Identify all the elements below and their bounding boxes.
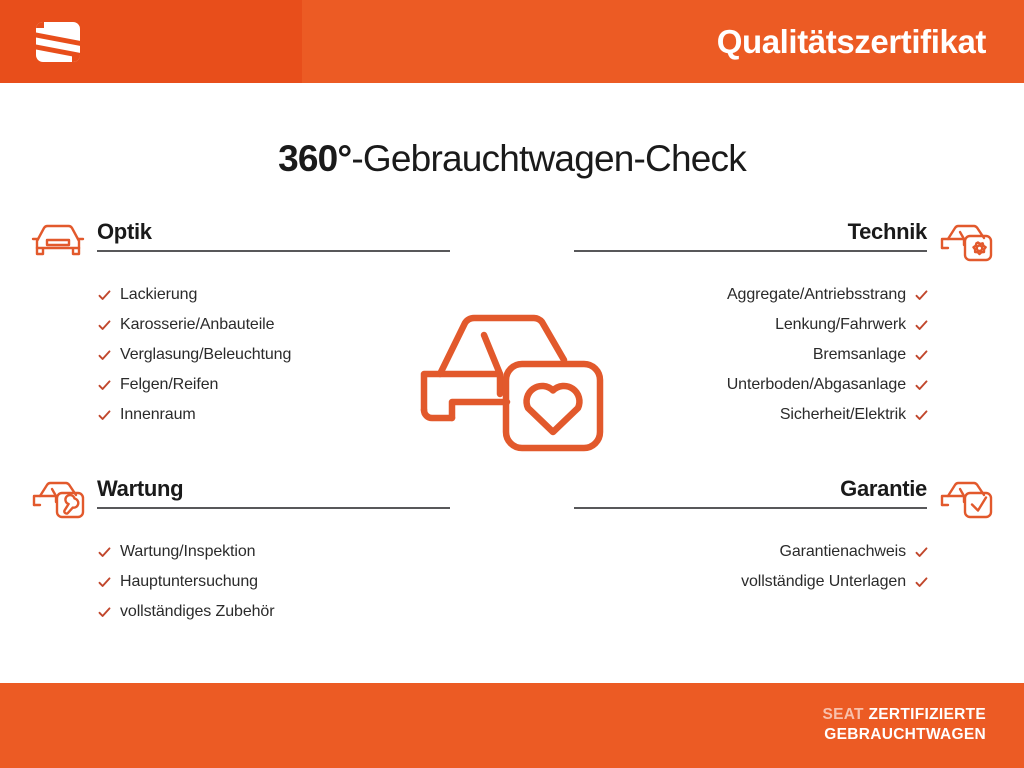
list-item-label: Garantienachweis: [780, 537, 906, 567]
check-icon: [915, 379, 928, 392]
car-front-icon: [30, 218, 86, 264]
check-icon: [98, 409, 111, 422]
check-icon: [98, 349, 111, 362]
list-item: vollständiges Zubehör: [98, 597, 450, 627]
list-item-label: Wartung/Inspektion: [120, 537, 255, 567]
car-with-heart-icon: [412, 302, 612, 474]
section-optik-header: Optik: [30, 218, 450, 268]
list-item-label: Verglasung/Beleuchtung: [120, 340, 291, 370]
list-item-label: Bremsanlage: [813, 340, 906, 370]
check-icon: [98, 379, 111, 392]
check-icon: [915, 409, 928, 422]
section-optik-title-wrap: Optik: [97, 218, 450, 252]
check-icon: [98, 546, 111, 559]
check-icon: [98, 289, 111, 302]
section-technik-title-wrap: Technik: [574, 218, 927, 252]
list-item: Sicherheit/Elektrik: [574, 400, 928, 430]
car-check-icon: [938, 475, 994, 521]
section-garantie-divider: [574, 507, 927, 509]
check-icon: [98, 576, 111, 589]
list-item: Wartung/Inspektion: [98, 537, 450, 567]
seat-logo: [34, 20, 267, 64]
check-icon: [915, 289, 928, 302]
check-icon: [915, 349, 928, 362]
list-item: Aggregate/Antriebsstrang: [574, 280, 928, 310]
car-wrench-icon: [30, 475, 86, 521]
section-optik-divider: [97, 250, 450, 252]
list-item-label: Sicherheit/Elektrik: [780, 400, 906, 430]
section-wartung-header: Wartung: [30, 475, 450, 525]
list-item-label: Hauptuntersuchung: [120, 567, 258, 597]
section-garantie: Garantie Garantienachweis vollständige U…: [574, 475, 994, 597]
list-item-label: Lackierung: [120, 280, 197, 310]
page-header: Qualitätszertifikat: [0, 0, 1024, 83]
section-wartung-divider: [97, 507, 450, 509]
section-optik: Optik Lackierung Karosserie/Anbauteile V…: [30, 218, 450, 430]
section-wartung-title-wrap: Wartung: [97, 475, 450, 509]
list-item: Bremsanlage: [574, 340, 928, 370]
page-title: 360°-Gebrauchtwagen-Check: [0, 138, 1024, 180]
list-item: Lackierung: [98, 280, 450, 310]
header-title: Qualitätszertifikat: [717, 0, 986, 83]
seat-wordmark: [99, 27, 267, 57]
list-item: Innenraum: [98, 400, 450, 430]
section-technik-title: Technik: [574, 218, 927, 246]
footer-brand: SEAT ZERTIFIZIERTE GEBRAUCHTWAGEN: [822, 705, 986, 745]
footer-brand-line2: GEBRAUCHTWAGEN: [822, 725, 986, 745]
list-item: vollständige Unterlagen: [574, 567, 928, 597]
page-title-rest: -Gebrauchtwagen-Check: [351, 138, 746, 179]
page-title-highlight: 360°: [278, 138, 351, 179]
section-technik-header: Technik: [574, 218, 994, 268]
list-item: Garantienachweis: [574, 537, 928, 567]
list-item-label: Lenkung/Fahrwerk: [775, 310, 906, 340]
footer-brand-prefix: SEAT: [822, 706, 863, 723]
list-item-label: Unterboden/Abgasanlage: [727, 370, 906, 400]
seat-s-mark-icon: [34, 20, 82, 64]
section-garantie-header: Garantie: [574, 475, 994, 525]
section-wartung-list: Wartung/Inspektion Hauptuntersuchung vol…: [30, 537, 450, 627]
section-garantie-title: Garantie: [574, 475, 927, 503]
list-item: Felgen/Reifen: [98, 370, 450, 400]
check-icon: [98, 319, 111, 332]
check-icon: [915, 319, 928, 332]
list-item: Hauptuntersuchung: [98, 567, 450, 597]
list-item-label: vollständiges Zubehör: [120, 597, 274, 627]
page-footer: SEAT ZERTIFIZIERTE GEBRAUCHTWAGEN: [0, 683, 1024, 768]
car-gear-icon: [938, 218, 994, 264]
section-optik-list: Lackierung Karosserie/Anbauteile Verglas…: [30, 280, 450, 430]
list-item: Lenkung/Fahrwerk: [574, 310, 928, 340]
list-item: Verglasung/Beleuchtung: [98, 340, 450, 370]
footer-brand-zertifizierte: ZERTIFIZIERTE: [868, 706, 986, 723]
section-optik-title: Optik: [97, 218, 450, 246]
section-garantie-title-wrap: Garantie: [574, 475, 927, 509]
check-icon: [98, 606, 111, 619]
list-item-label: Aggregate/Antriebsstrang: [727, 280, 906, 310]
section-wartung: Wartung Wartung/Inspektion Hauptuntersuc…: [30, 475, 450, 627]
check-icon: [915, 576, 928, 589]
section-garantie-list: Garantienachweis vollständige Unterlagen: [574, 537, 994, 597]
list-item: Karosserie/Anbauteile: [98, 310, 450, 340]
footer-brand-line1: SEAT ZERTIFIZIERTE: [822, 705, 986, 725]
check-icon: [915, 546, 928, 559]
section-technik-divider: [574, 250, 927, 252]
list-item: Unterboden/Abgasanlage: [574, 370, 928, 400]
list-item-label: Karosserie/Anbauteile: [120, 310, 274, 340]
section-wartung-title: Wartung: [97, 475, 450, 503]
section-technik: Technik Aggregate/Antriebsstrang Lenkung…: [574, 218, 994, 430]
section-technik-list: Aggregate/Antriebsstrang Lenkung/Fahrwer…: [574, 280, 994, 430]
list-item-label: vollständige Unterlagen: [741, 567, 906, 597]
list-item-label: Felgen/Reifen: [120, 370, 218, 400]
list-item-label: Innenraum: [120, 400, 196, 430]
